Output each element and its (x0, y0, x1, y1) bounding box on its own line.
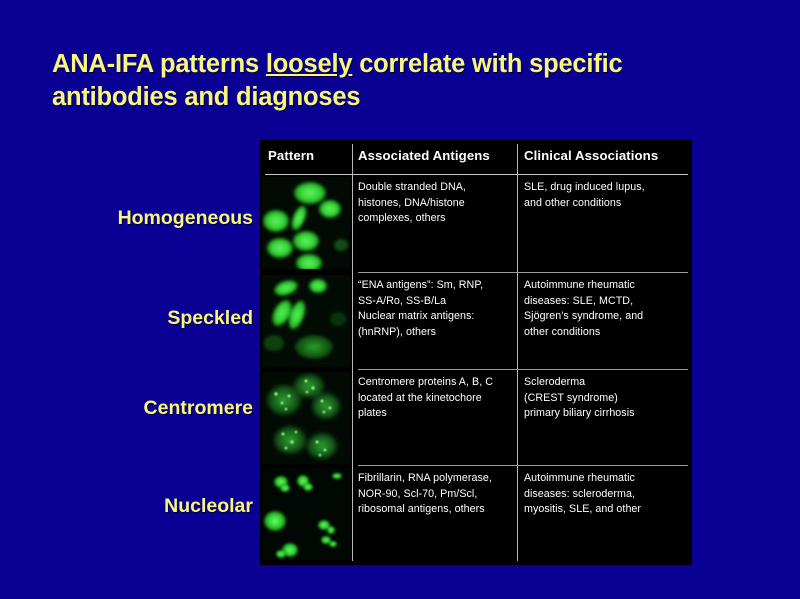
pattern-label-speckled: Speckled (60, 307, 253, 330)
antigen-line: Fibrillarin, RNA polymerase, (358, 471, 513, 487)
table-header-row: Pattern Associated Antigens Clinical Ass… (260, 140, 692, 175)
cell-antigens: Fibrillarin, RNA polymerase, NOR-90, Scl… (358, 471, 513, 518)
antigen-line: plates (358, 406, 513, 422)
antigen-line: Nuclear matrix antigens: (358, 309, 513, 325)
antigen-line: (hnRNP), others (358, 325, 513, 341)
page-title: ANA-IFA patterns loosely correlate with … (52, 48, 742, 114)
pattern-label-centromere: Centromere (60, 397, 253, 420)
clinical-line: myositis, SLE, and other (524, 502, 688, 518)
antigen-line: complexes, others (358, 211, 513, 227)
clinical-line: and other conditions (524, 196, 688, 212)
clinical-line: Scleroderma (524, 375, 688, 391)
clinical-line: (CREST syndrome) (524, 391, 688, 407)
table-body: Double stranded DNA, histones, DNA/histo… (260, 175, 692, 562)
immunofluorescence-homogeneous-icon (262, 177, 350, 269)
slide-canvas: ANA-IFA patterns loosely correlate with … (0, 0, 800, 599)
pattern-name-list: Homogeneous Speckled Centromere Nucleola… (60, 175, 253, 565)
clinical-line: Autoimmune rheumatic (524, 278, 688, 294)
antigen-line: histones, DNA/histone (358, 196, 513, 212)
cell-clinical: SLE, drug induced lupus, and other condi… (524, 180, 688, 211)
column-header-pattern: Pattern (268, 148, 314, 163)
title-underlined-word: loosely (266, 50, 352, 78)
antigen-line: ribosomal antigens, others (358, 502, 513, 518)
column-header-clinical-associations: Clinical Associations (524, 148, 658, 163)
clinical-line: other conditions (524, 325, 688, 341)
cell-clinical: Scleroderma (CREST syndrome) primary bil… (524, 375, 688, 422)
clinical-line: diseases: scleroderma, (524, 487, 688, 503)
antigen-line: NOR-90, Scl-70, Pm/Scl, (358, 487, 513, 503)
title-text-part1: ANA-IFA patterns (52, 50, 266, 78)
clinical-line: diseases: SLE, MCTD, (524, 294, 688, 310)
clinical-line: SLE, drug induced lupus, (524, 180, 688, 196)
immunofluorescence-nucleolar-icon (262, 468, 350, 560)
antigen-line: located at the kinetochore (358, 391, 513, 407)
immunofluorescence-speckled-icon (262, 275, 350, 367)
column-header-associated-antigens: Associated Antigens (358, 148, 490, 163)
cell-clinical: Autoimmune rheumatic diseases: SLE, MCTD… (524, 278, 688, 340)
cell-clinical: Autoimmune rheumatic diseases: scleroder… (524, 471, 688, 518)
antigen-line: Double stranded DNA, (358, 180, 513, 196)
table-row: Double stranded DNA, histones, DNA/histo… (260, 175, 692, 273)
clinical-line: Autoimmune rheumatic (524, 471, 688, 487)
cell-antigens: “ENA antigens”: Sm, RNP, SS-A/Ro, SS-B/L… (358, 278, 513, 340)
clinical-line: Sjögren’s syndrome, and (524, 309, 688, 325)
pattern-label-homogeneous: Homogeneous (60, 207, 253, 230)
title-line-2: antibodies and diagnoses (52, 83, 360, 111)
title-text-part2: correlate with specific (352, 50, 622, 78)
antigen-line: SS-A/Ro, SS-B/La (358, 294, 513, 310)
immunofluorescence-centromere-icon (262, 372, 350, 464)
ana-ifa-table: Pattern Associated Antigens Clinical Ass… (260, 140, 692, 565)
pattern-label-nucleolar: Nucleolar (60, 495, 253, 518)
table-row: Fibrillarin, RNA polymerase, NOR-90, Scl… (260, 466, 692, 562)
cell-antigens: Centromere proteins A, B, C located at t… (358, 375, 513, 422)
antigen-line: “ENA antigens”: Sm, RNP, (358, 278, 513, 294)
table-row: Centromere proteins A, B, C located at t… (260, 370, 692, 466)
clinical-line: primary biliary cirrhosis (524, 406, 688, 422)
table-row: “ENA antigens”: Sm, RNP, SS-A/Ro, SS-B/L… (260, 273, 692, 370)
cell-antigens: Double stranded DNA, histones, DNA/histo… (358, 180, 513, 227)
antigen-line: Centromere proteins A, B, C (358, 375, 513, 391)
